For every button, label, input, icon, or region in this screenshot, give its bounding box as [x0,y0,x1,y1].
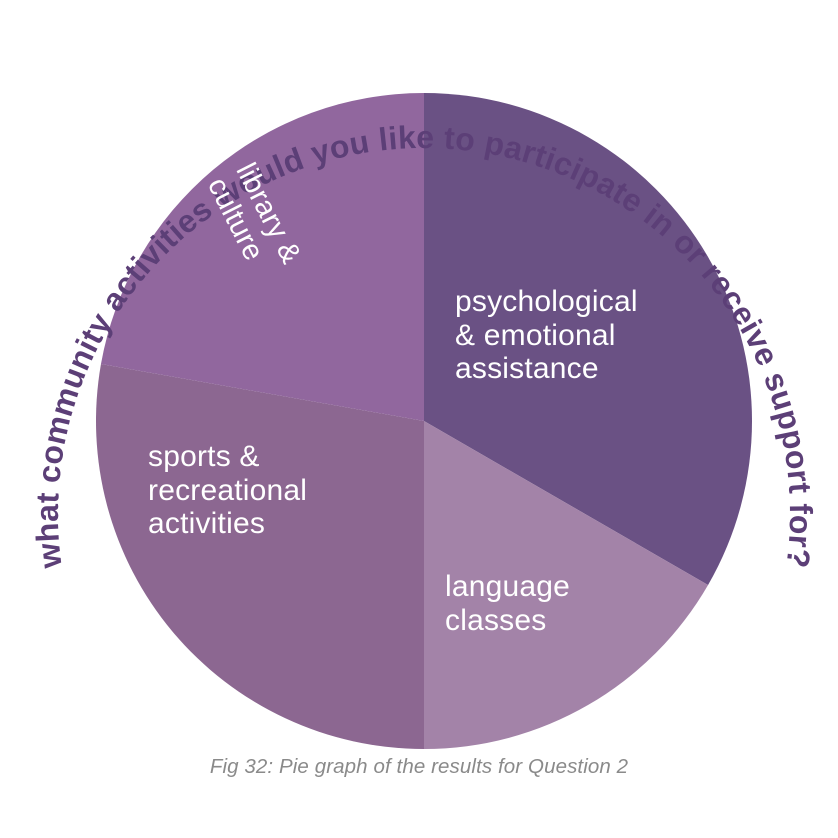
pie-slice-sports-recreational-activities[interactable] [96,364,424,749]
figure-caption: Fig 32: Pie graph of the results for Que… [0,755,838,779]
pie-chart-svg [0,0,838,838]
slice-label-sports-recreational-activities: sports & recreational activities [148,440,307,541]
pie-chart [0,0,838,838]
slice-label-language-classes: language classes [445,570,570,637]
figure-container: what community activities would you like… [0,0,838,838]
slice-label-psychological-emotional-assistance: psychological & emotional assistance [455,285,638,386]
